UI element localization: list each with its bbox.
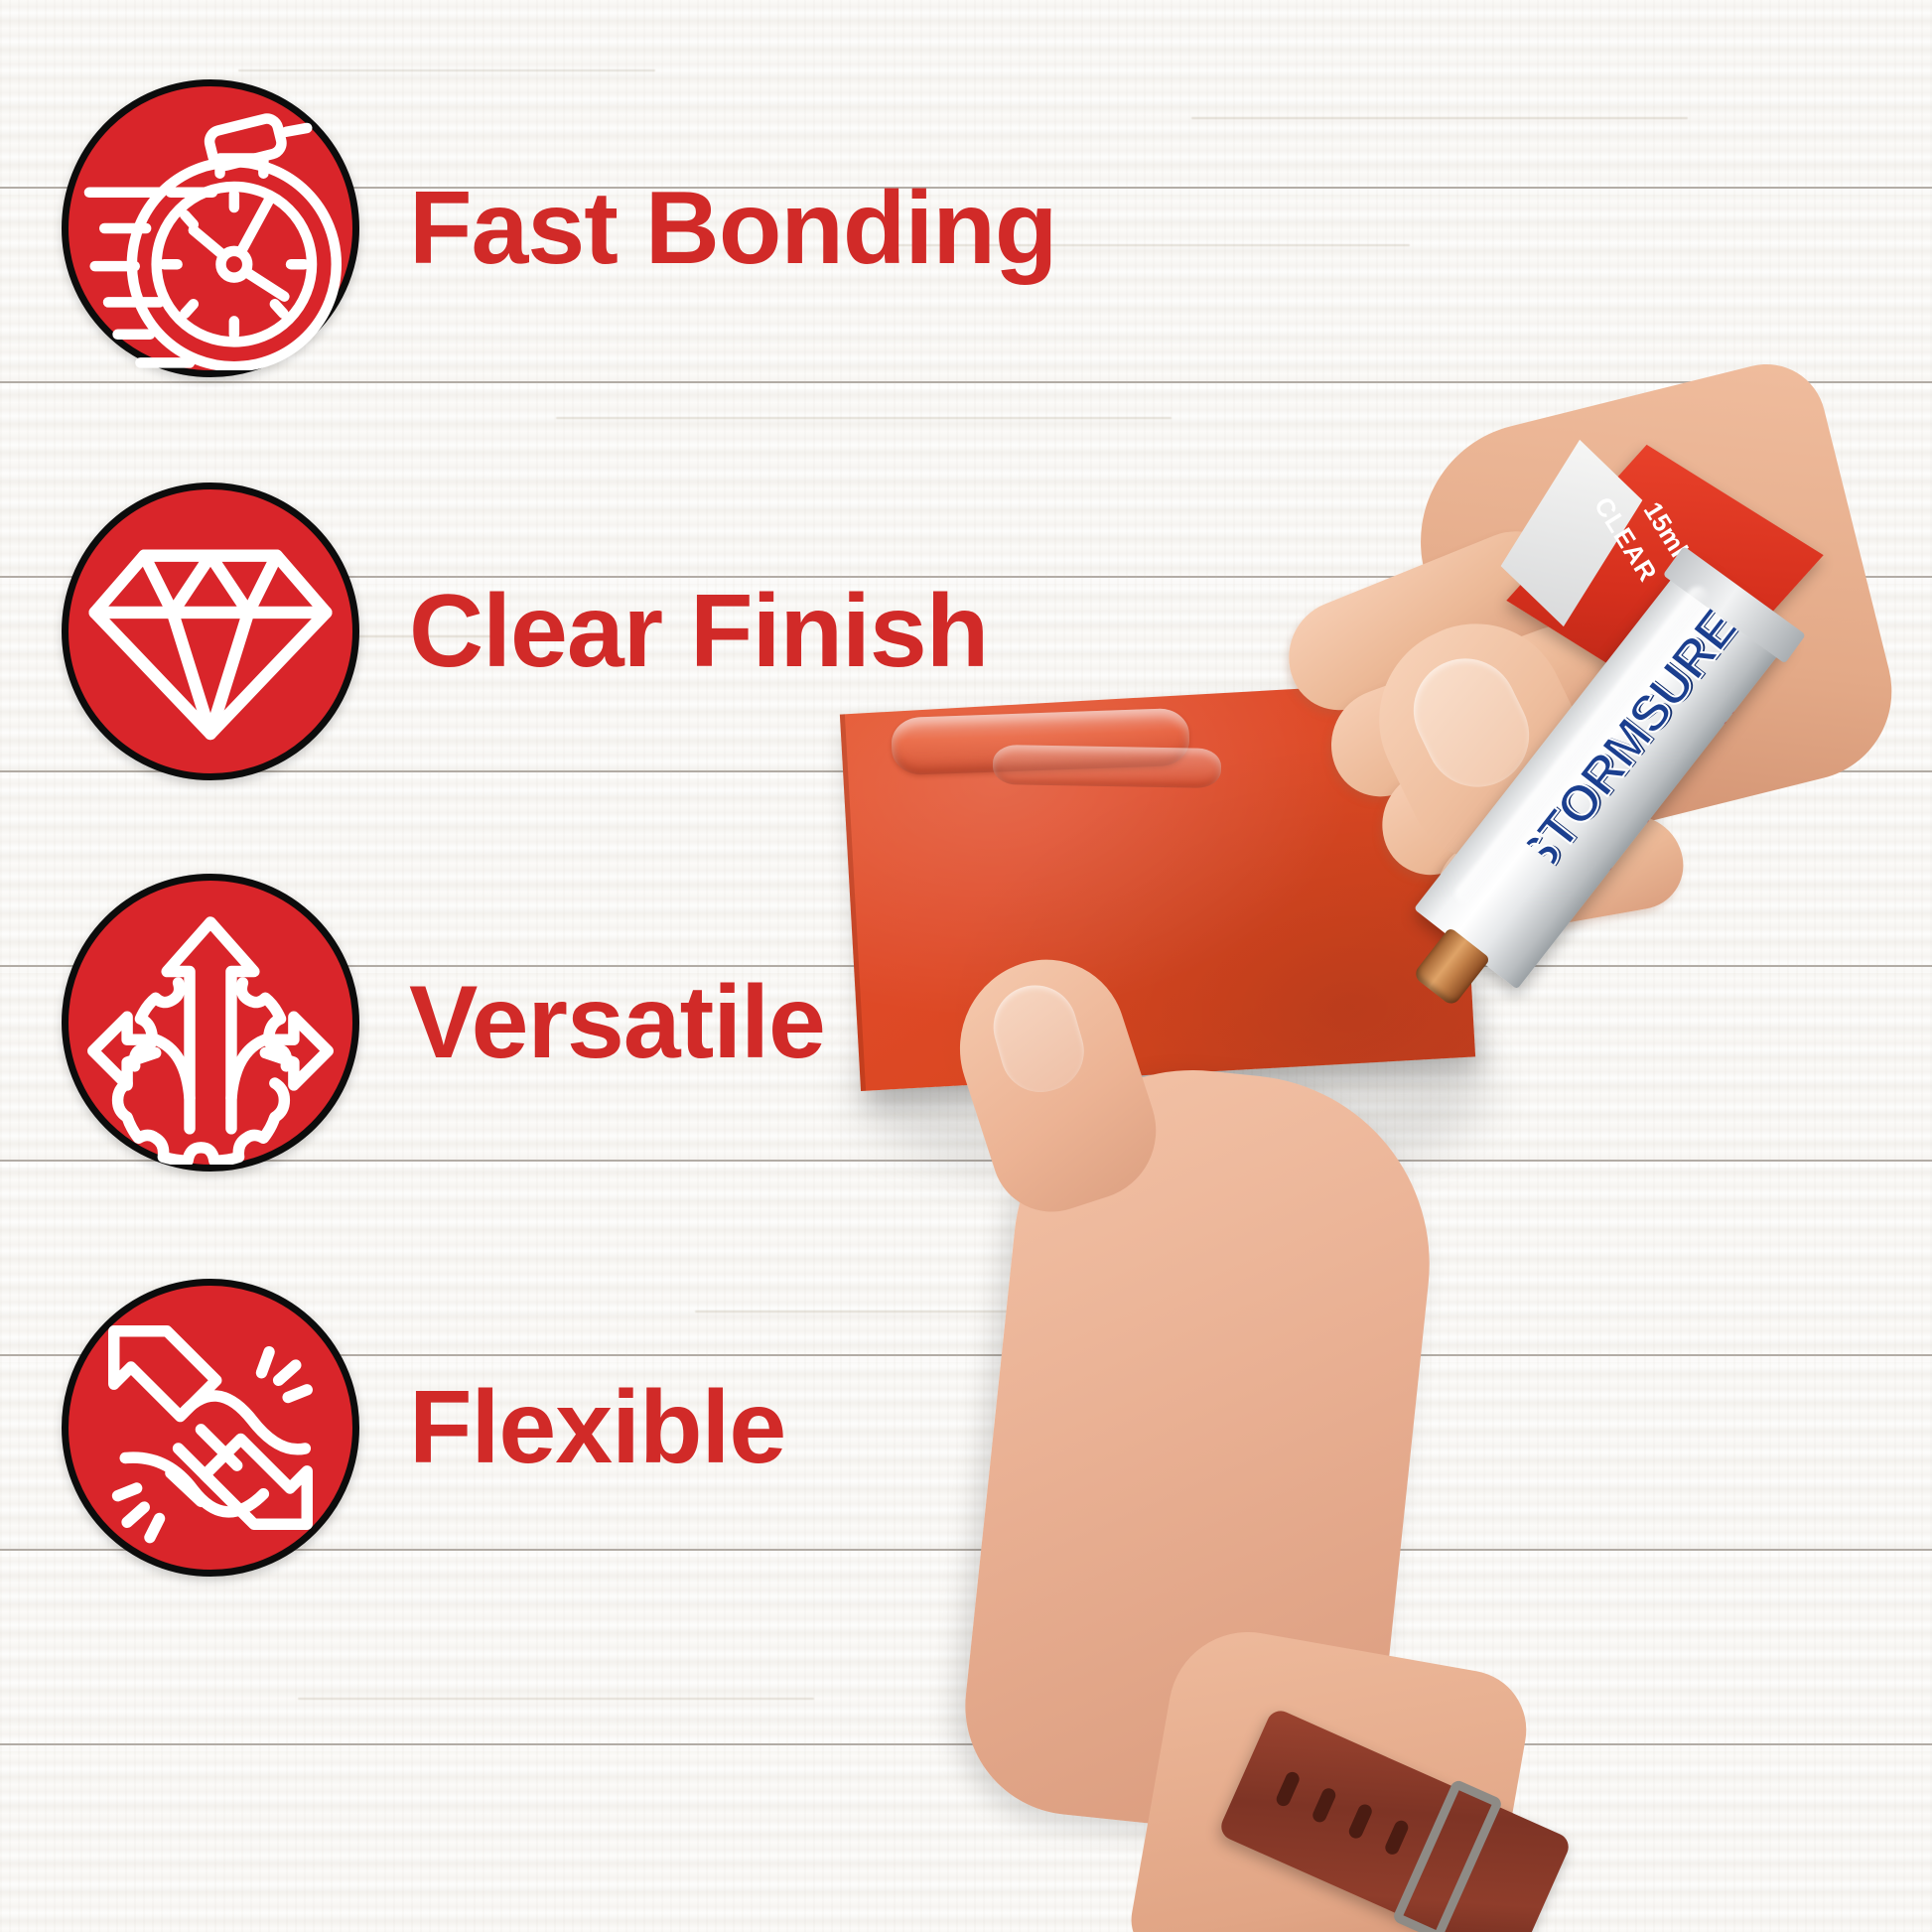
- feature-label: Fast Bonding: [409, 177, 1056, 280]
- wood-grain: [1191, 117, 1688, 119]
- stopwatch-speed-icon: [62, 79, 359, 377]
- stretch-arrows-icon: [62, 1279, 359, 1577]
- hand-holding-patch: [933, 933, 1529, 1932]
- feature-label: Versatile: [409, 971, 825, 1074]
- infographic-canvas: Fast Bonding Clear Finish: [0, 0, 1932, 1932]
- feature-item-versatile[interactable]: Versatile: [62, 874, 825, 1172]
- product-photo: CLEAR 15ml STORMSURE Fixes Almost Everyt…: [814, 377, 1932, 1932]
- diamond-icon: [62, 483, 359, 780]
- feature-label: Flexible: [409, 1376, 785, 1479]
- hand-holding-tube: CLEAR 15ml STORMSURE Fixes Almost Everyt…: [1112, 397, 1866, 953]
- feature-item-fast-bonding[interactable]: Fast Bonding: [62, 79, 1056, 377]
- feature-item-flexible[interactable]: Flexible: [62, 1279, 785, 1577]
- three-way-arrows-gear-icon: [62, 874, 359, 1172]
